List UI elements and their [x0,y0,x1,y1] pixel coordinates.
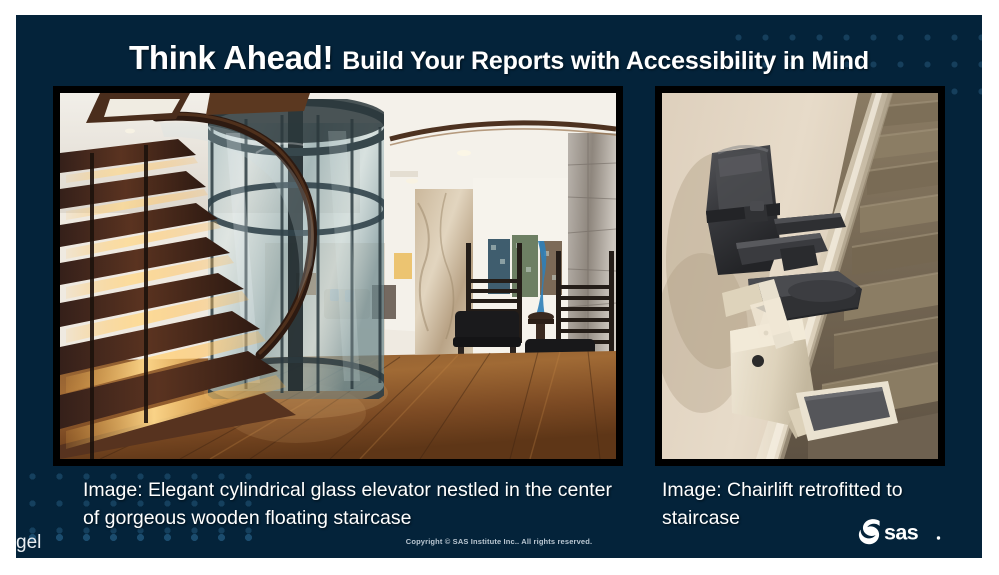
photo-chairlift-image [662,93,938,459]
title-primary: Think Ahead! [129,39,333,76]
copyright-text: Copyright © SAS Institute Inc.. All righ… [16,537,982,546]
corner-partial-text: gel [16,531,41,555]
slide-title: Think Ahead!Build Your Reports with Acce… [16,41,982,74]
svg-text:sas: sas [884,521,919,545]
photo-elevator-image [60,93,616,459]
title-secondary: Build Your Reports with Accessibility in… [342,47,869,75]
presentation-slide: Think Ahead!Build Your Reports with Acce… [16,15,982,558]
photo-elevator-staircase [53,86,623,466]
sas-logo: sas [854,515,958,549]
photo-chairlift [655,86,945,466]
slide-stage: Think Ahead!Build Your Reports with Acce… [0,0,999,575]
caption-left: Image: Elegant cylindrical glass elevato… [83,476,628,532]
